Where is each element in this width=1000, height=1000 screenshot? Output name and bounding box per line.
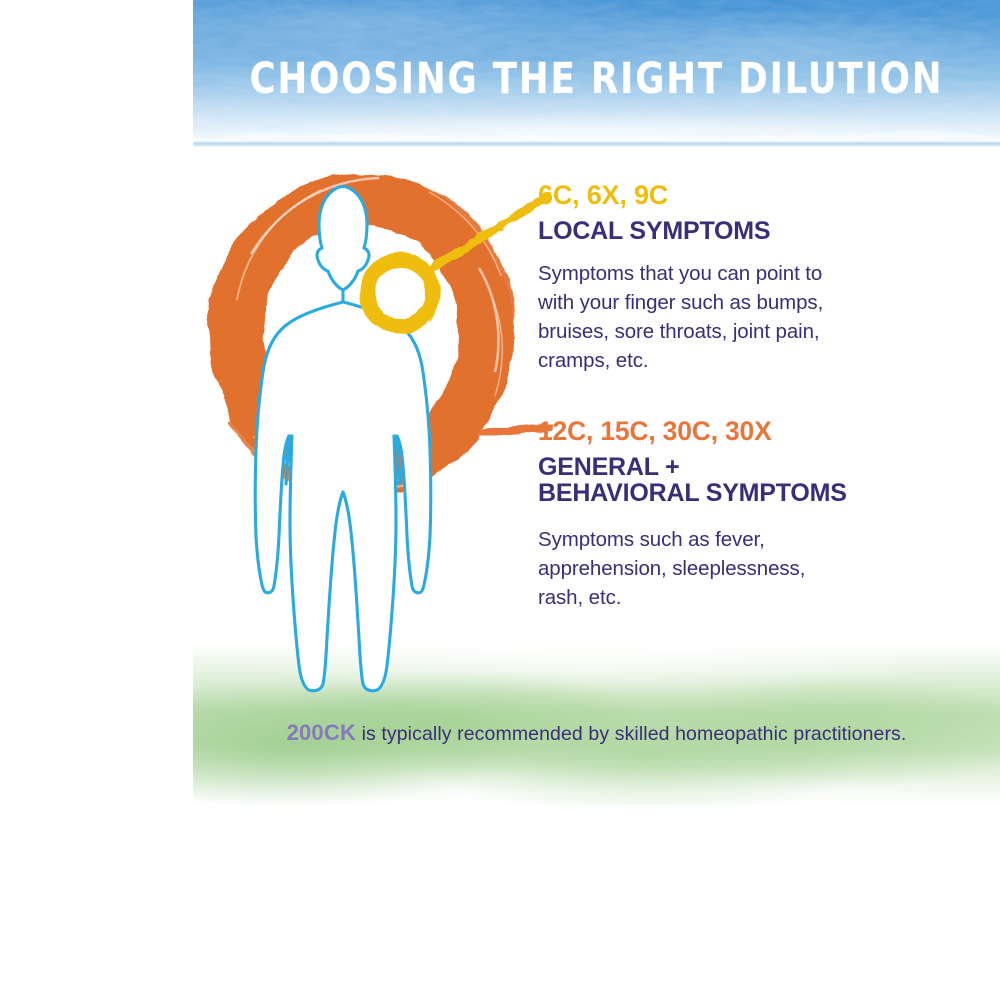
dilution-label-local: 6C, 6X, 9C [538, 182, 938, 209]
section-general-behavioral-symptoms: 12C, 15C, 30C, 30X GENERAL + BEHAVIORAL … [538, 418, 938, 612]
body-illustration [193, 150, 553, 710]
symptom-title-general: GENERAL + BEHAVIORAL SYMPTOMS [538, 454, 938, 507]
section-local-symptoms: 6C, 6X, 9C LOCAL SYMPTOMS Symptoms that … [538, 182, 938, 375]
symptom-body-general: Symptoms such as fever, apprehension, sl… [538, 525, 938, 612]
symptom-body-local: Symptoms that you can point to with your… [538, 259, 938, 375]
symptom-title-local: LOCAL SYMPTOMS [538, 218, 938, 245]
infographic-root: CHOOSING THE RIGHT DILUTION [0, 0, 1000, 1000]
footer-note-strong: 200CK [287, 720, 356, 745]
footer-note-text: is typically recommended by skilled home… [356, 723, 906, 745]
footer-note: 200CK is typically recommended by skille… [193, 722, 1000, 745]
dilution-label-general: 12C, 15C, 30C, 30X [538, 418, 938, 445]
page-title: CHOOSING THE RIGHT DILUTION [225, 58, 967, 101]
illustration-svg [193, 150, 553, 710]
header-band-bottom-edge [193, 141, 1000, 147]
